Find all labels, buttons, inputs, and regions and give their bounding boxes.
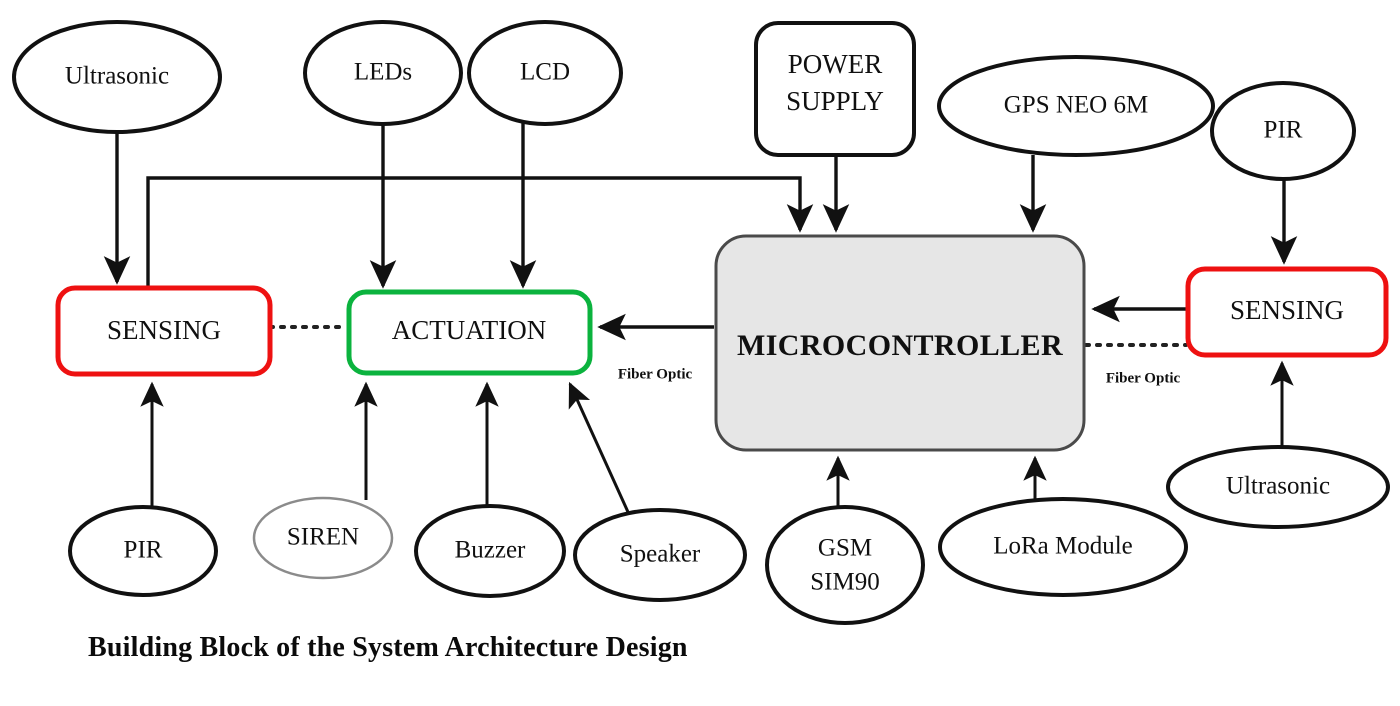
gps-neo-6m-label: GPS NEO 6M (1004, 92, 1148, 119)
ultrasonic-right-label: Ultrasonic (1226, 473, 1330, 500)
ultrasonic-left-label: Ultrasonic (65, 63, 169, 90)
edges-layer (117, 122, 1284, 512)
pir-right-label: PIR (1264, 117, 1303, 144)
sensing-left-label: SENSING (107, 315, 221, 345)
fiber-optic-right-label: Fiber Optic (1106, 370, 1181, 386)
diagram-caption: Building Block of the System Architectur… (88, 632, 688, 664)
node-actuation[interactable]: ACTUATION (349, 292, 590, 373)
gsm-sim90-label-line1: GSM (818, 535, 872, 562)
node-lcd[interactable]: LCD (469, 22, 621, 124)
microcontroller-label: MICROCONTROLLER (737, 329, 1063, 362)
node-sensing-left[interactable]: SENSING (58, 288, 270, 374)
sensing-right-label: SENSING (1230, 295, 1344, 325)
buzzer-label: Buzzer (455, 537, 526, 564)
pir-left-label: PIR (124, 537, 163, 564)
node-buzzer[interactable]: Buzzer (416, 506, 564, 596)
lcd-label: LCD (520, 59, 570, 86)
node-ultrasonic-left[interactable]: Ultrasonic (14, 22, 220, 132)
node-pir-left[interactable]: PIR (70, 507, 216, 595)
node-leds[interactable]: LEDs (305, 22, 461, 124)
node-microcontroller[interactable]: MICROCONTROLLER (716, 236, 1084, 450)
leds-label: LEDs (354, 59, 412, 86)
lora-module-label: LoRa Module (993, 533, 1133, 560)
node-gsm-sim90[interactable]: GSM SIM90 (767, 507, 923, 623)
siren-label: SIREN (287, 524, 359, 551)
system-architecture-diagram: Ultrasonic LEDs LCD POWER SUPPLY GPS NEO… (0, 0, 1400, 706)
node-pir-right[interactable]: PIR (1212, 83, 1354, 179)
gsm-sim90-ellipse (767, 507, 923, 623)
speaker-label: Speaker (620, 541, 701, 568)
diagram-page: Ultrasonic LEDs LCD POWER SUPPLY GPS NEO… (0, 0, 1400, 706)
fiber-optic-left-label: Fiber Optic (618, 366, 693, 382)
power-supply-label-line2: SUPPLY (786, 86, 884, 116)
node-sensing-right[interactable]: SENSING (1188, 269, 1386, 355)
node-speaker[interactable]: Speaker (575, 510, 745, 600)
edge-speaker-to-actuation (570, 384, 628, 512)
node-lora-module[interactable]: LoRa Module (940, 499, 1186, 595)
gsm-sim90-label-line2: SIM90 (810, 569, 879, 596)
node-siren[interactable]: SIREN (254, 498, 392, 578)
node-power-supply[interactable]: POWER SUPPLY (756, 23, 914, 155)
node-ultrasonic-right[interactable]: Ultrasonic (1168, 447, 1388, 527)
power-supply-label-line1: POWER (788, 49, 883, 79)
actuation-label: ACTUATION (392, 315, 547, 345)
node-gps-neo-6m[interactable]: GPS NEO 6M (939, 57, 1213, 155)
edge-sensing-left-bus-to-microcontroller (148, 178, 800, 290)
